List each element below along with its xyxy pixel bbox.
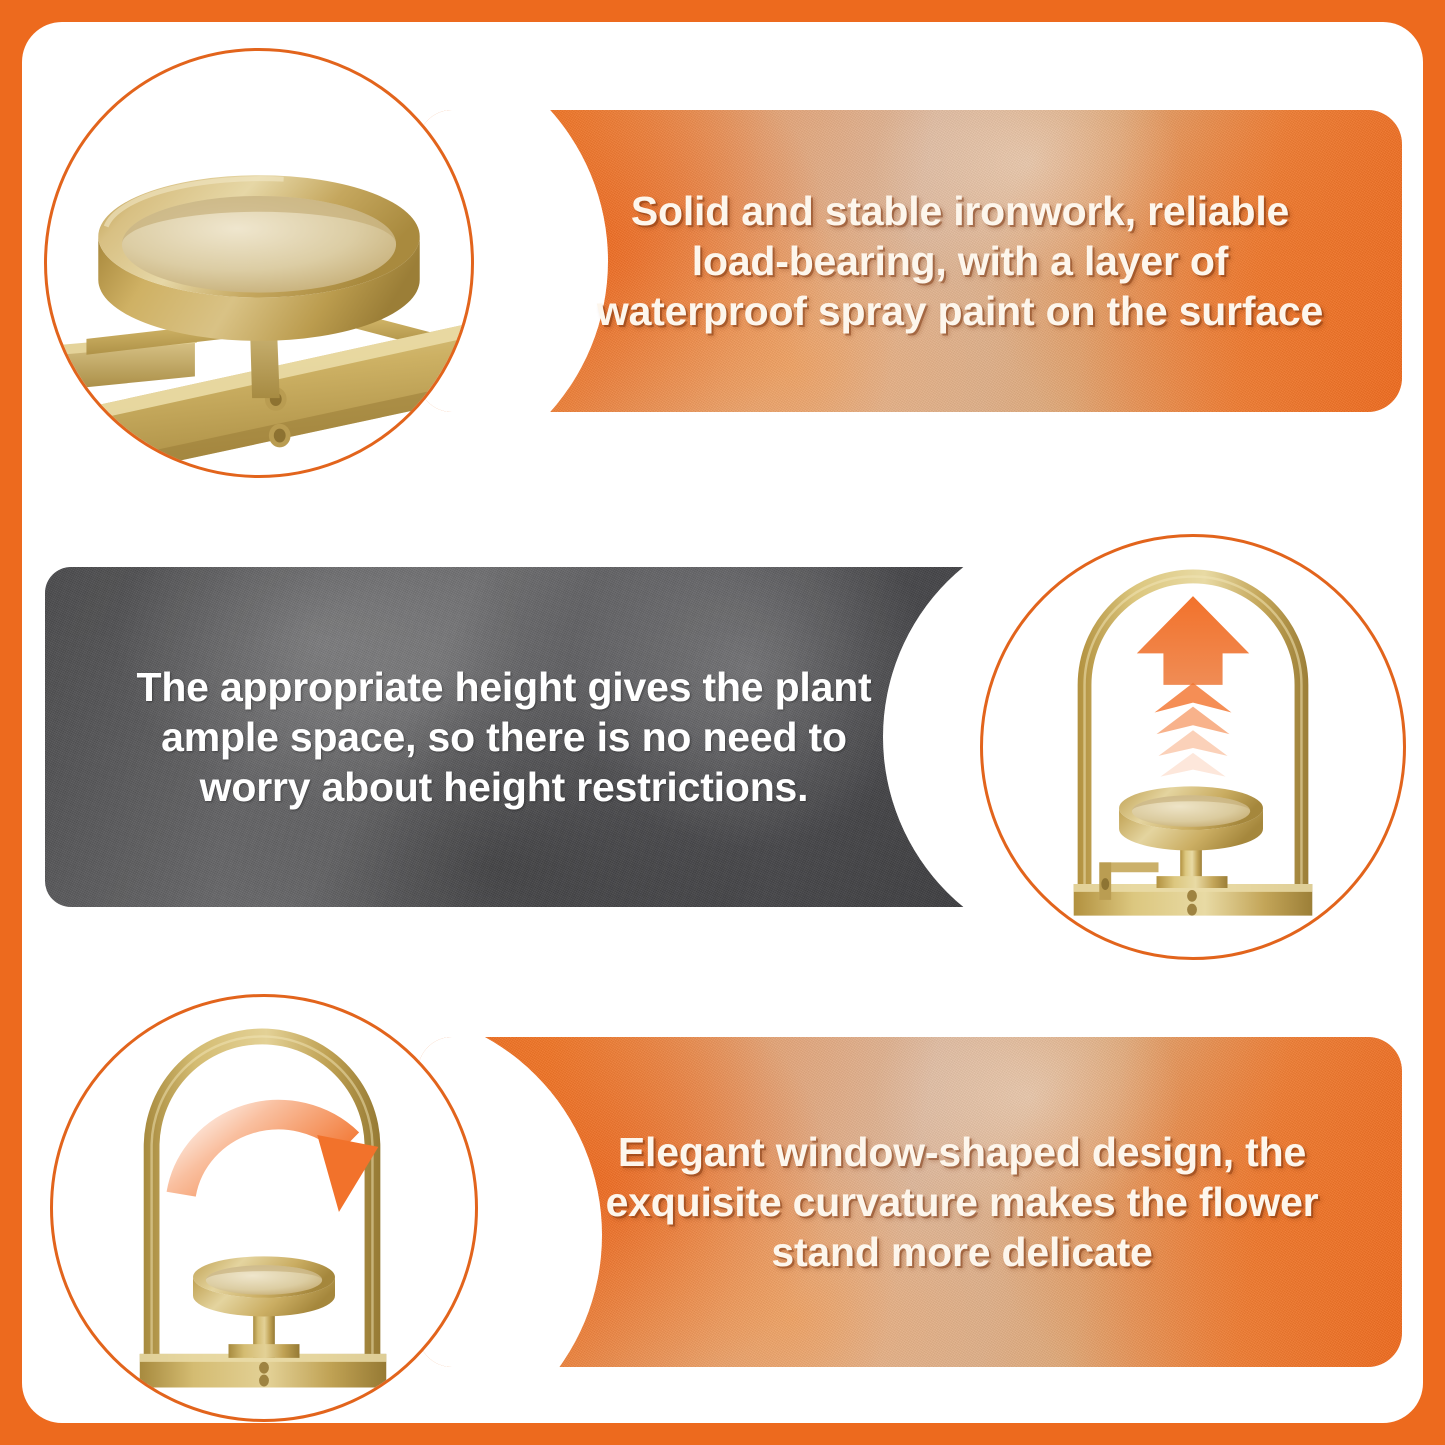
- photo-tray-closeup: [47, 51, 471, 475]
- feature-photo-ironwork: [44, 48, 474, 478]
- feature-block-design: Elegant window-shaped design, the exquis…: [22, 962, 1423, 1423]
- feature-banner-ironwork: Solid and stable ironwork, reliable load…: [418, 110, 1402, 412]
- photo-arch-shelf-up: [983, 537, 1403, 957]
- product-feature-infographic: Solid and stable ironwork, reliable load…: [0, 0, 1445, 1445]
- feature-block-height: The appropriate height gives the plant a…: [22, 492, 1423, 962]
- feature-photo-height: [980, 534, 1406, 960]
- feature-text-design: Elegant window-shaped design, the exquis…: [428, 1127, 1392, 1277]
- infographic-inner-card: Solid and stable ironwork, reliable load…: [22, 22, 1423, 1423]
- photo-arch-shelf-curve: [53, 997, 475, 1419]
- feature-text-ironwork: Solid and stable ironwork, reliable load…: [430, 186, 1390, 336]
- feature-text-height: The appropriate height gives the plant a…: [64, 662, 1004, 812]
- feature-banner-design: Elegant window-shaped design, the exquis…: [418, 1037, 1402, 1367]
- feature-banner-height: The appropriate height gives the plant a…: [45, 567, 1023, 907]
- up-arrow-icon: [1137, 596, 1249, 776]
- feature-photo-design: [50, 994, 478, 1422]
- curved-arrow-icon: [181, 1115, 378, 1212]
- feature-block-ironwork: Solid and stable ironwork, reliable load…: [22, 22, 1423, 492]
